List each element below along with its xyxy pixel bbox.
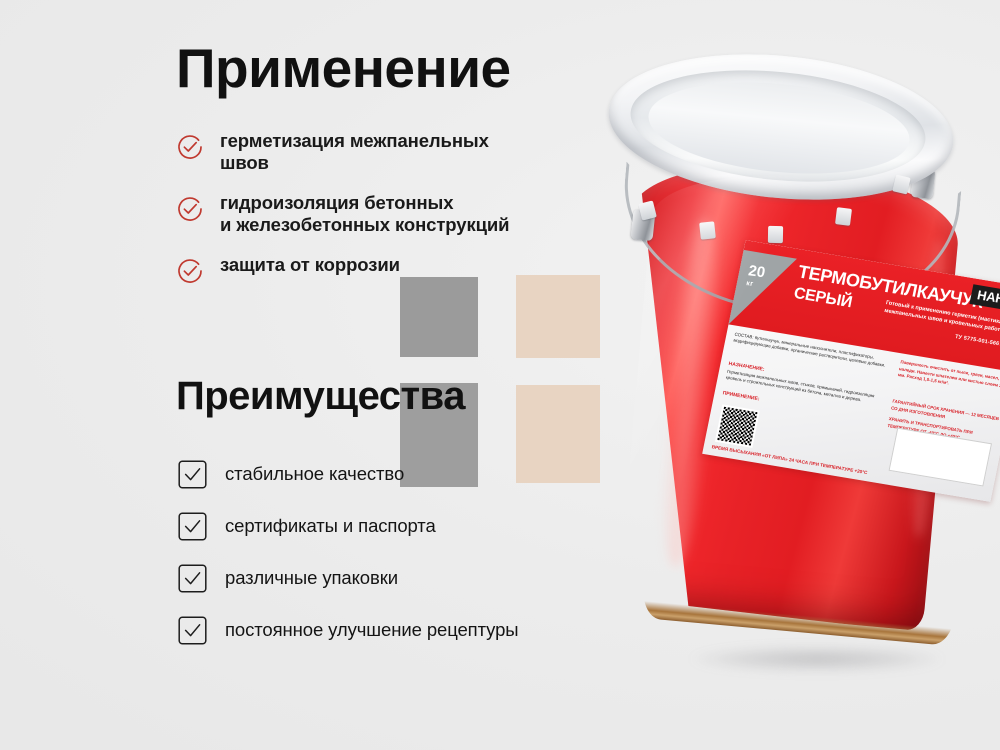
checkbox-icon: [178, 564, 207, 593]
list-item: постоянное улучшение рецептуры: [178, 604, 648, 656]
list-item: гидроизоляция бетонных и железобетонных …: [176, 192, 606, 237]
lid-crimp-tab: [699, 221, 716, 239]
list-item: сертификаты и паспорта: [178, 500, 648, 552]
benefits-list: стабильное качество сертификаты и паспор…: [178, 448, 648, 656]
list-item-label: герметизация межпанельных швов: [220, 130, 489, 175]
application-list: герметизация межпанельных швов гидроизол…: [176, 130, 606, 302]
list-item: стабильное качество: [178, 448, 648, 500]
list-item-label: различные упаковки: [225, 567, 398, 589]
checkbox-icon: [178, 460, 207, 489]
product-pail: 20 кг ТЕРМОБУТИЛКАУЧУК НАНО СЕРЫЙ Готовы…: [596, 48, 1000, 668]
checkbox-icon: [178, 616, 207, 645]
circle-check-icon: [176, 257, 204, 285]
circle-check-icon: [176, 195, 204, 223]
qr-code-icon: [715, 404, 760, 448]
list-item-label: гидроизоляция бетонных и железобетонных …: [220, 192, 509, 237]
checkbox-icon: [178, 512, 207, 541]
list-item: защита от коррозии: [176, 254, 606, 285]
label-weight-value: 20: [747, 262, 766, 281]
list-item: герметизация межпанельных швов: [176, 130, 606, 175]
application-heading: Применение: [176, 36, 511, 100]
label-purpose-text: Герметизация межпанельных швов, стыков, …: [725, 369, 885, 408]
list-item-label: стабильное качество: [225, 463, 404, 485]
benefits-heading: Преимущества: [176, 374, 465, 419]
drop-shadow: [652, 642, 982, 676]
list-item-label: постоянное улучшение рецептуры: [225, 619, 519, 641]
circle-check-icon: [176, 133, 204, 161]
lid-crimp-tab: [768, 226, 783, 243]
lid-crimp-tab: [835, 207, 852, 226]
product-infographic: Применение герметизация межпанельных шво…: [0, 0, 1000, 750]
list-item-label: защита от коррозии: [220, 254, 400, 276]
list-item: различные упаковки: [178, 552, 648, 604]
label-application-title: ПРИМЕНЕНИЕ:: [722, 390, 760, 402]
list-item-label: сертификаты и паспорта: [225, 515, 436, 537]
